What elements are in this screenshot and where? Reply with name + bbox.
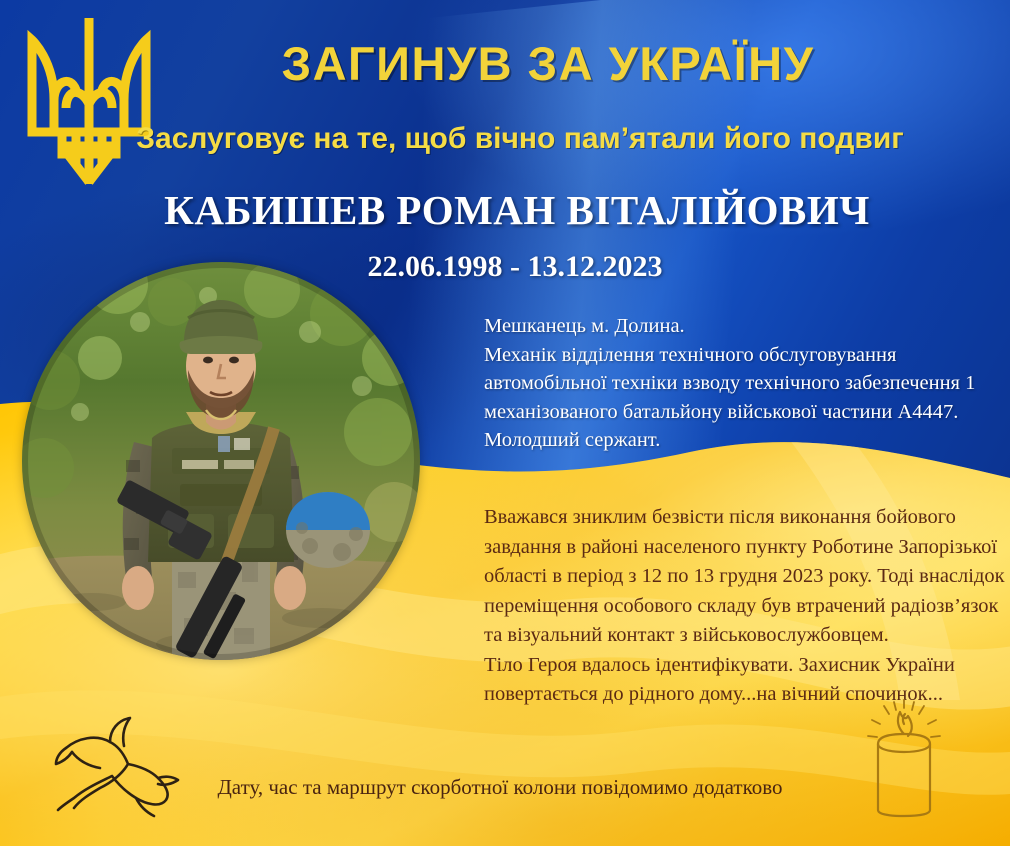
bio-line: механізованого батальйону військової час… — [484, 398, 1004, 427]
bio-line: Мешканець м. Долина. — [484, 312, 1004, 341]
memorial-poster: ЗАГИНУВ ЗА УКРАЇНУ Заслуговує на те, щоб… — [0, 0, 1010, 846]
person-name: КАБИШЕВ РОМАН ВІТАЛІЙОВИЧ — [0, 186, 1010, 234]
bio-line: Механік відділення технічного обслуговув… — [484, 341, 1004, 370]
story-line: та візуальний контакт з військовослужбов… — [484, 621, 1010, 651]
footer-note: Дату, час та маршрут скорботної колони п… — [0, 775, 1010, 800]
story-line: області в період з 12 по 13 грудня 2023 … — [484, 562, 1010, 592]
story-line: завдання в районі населеного пункту Робо… — [484, 533, 1010, 563]
story-block: Вважався зниклим безвісти після виконанн… — [484, 503, 1010, 710]
peace-dove-icon — [52, 712, 184, 824]
poster-title-main: ЗАГИНУВ ЗА УКРАЇНУ — [0, 36, 1010, 91]
bio-line: Молодший сержант. — [484, 426, 1004, 455]
portrait-illustration — [22, 262, 420, 660]
story-line: переміщення особового складу був втрачен… — [484, 592, 1010, 622]
story-line: Вважався зниклим безвісти після виконанн… — [484, 503, 1010, 533]
poster-title-subtitle: Заслуговує на те, щоб вічно пам’ятали йо… — [0, 122, 1010, 156]
bio-line: автомобільної техніки взводу технічного … — [484, 369, 1004, 398]
memorial-candle-icon — [848, 694, 960, 822]
soldier-portrait-photo — [22, 262, 420, 660]
biography-block: Мешканець м. Долина. Механік відділення … — [484, 312, 1004, 455]
story-line: Тіло Героя вдалось ідентифікувати. Захис… — [484, 651, 1010, 681]
